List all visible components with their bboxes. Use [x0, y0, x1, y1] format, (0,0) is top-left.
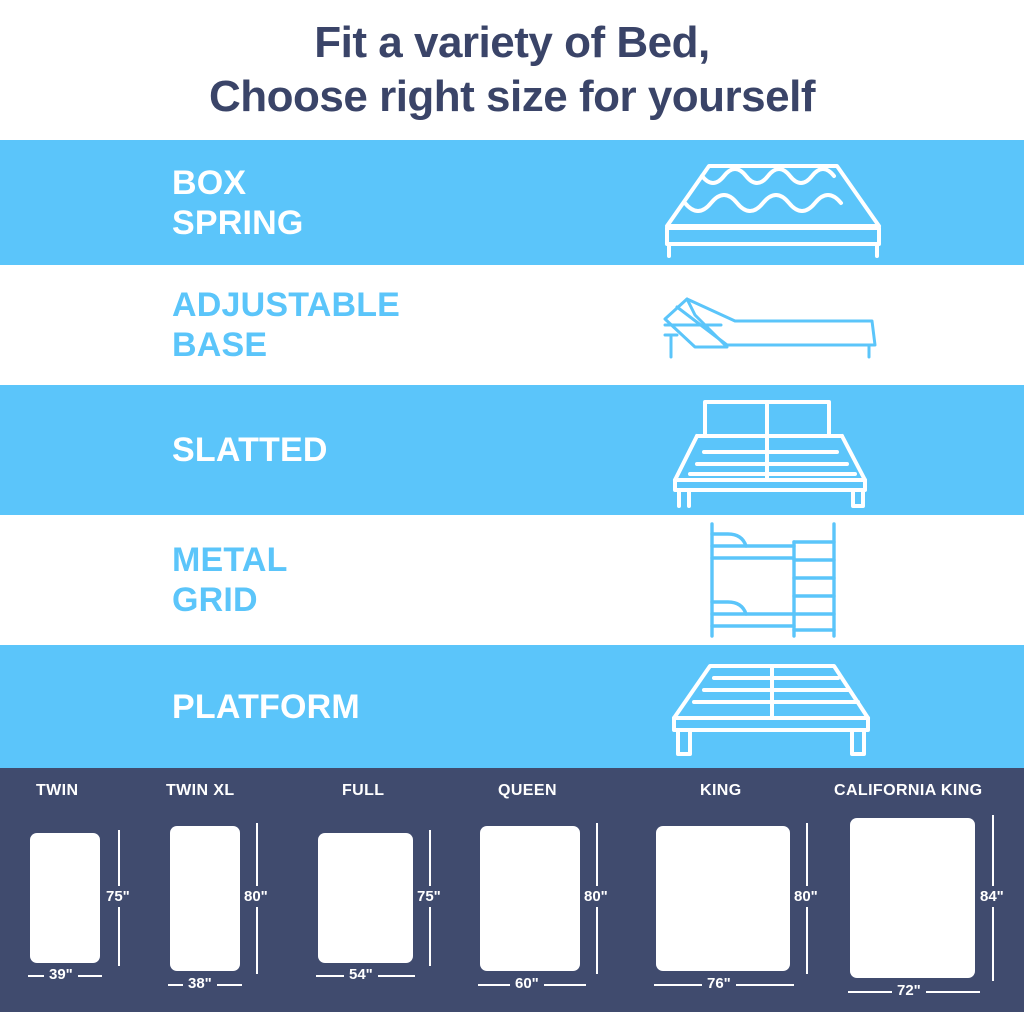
bed-type-row-metal-grid[interactable]: METAL GRID	[0, 515, 1024, 645]
page-title-line-2: Choose right size for yourself	[209, 70, 815, 124]
mattress-california-king	[850, 818, 975, 978]
size-card-full[interactable]: FULL 75" 54"	[325, 768, 490, 1012]
dim-height-king: 80"	[791, 886, 821, 907]
size-title-king: KING	[700, 782, 742, 800]
mattress-twin	[30, 833, 100, 963]
bed-type-row-platform[interactable]: PLATFORM	[0, 645, 1024, 768]
bed-type-list: BOX SPRING ADJUSTABLE BASE SLATTED	[0, 140, 1024, 768]
adjustable-base-icon	[520, 265, 1024, 385]
dim-height-twin: 75"	[103, 886, 133, 907]
platform-bed-icon	[520, 645, 1024, 768]
page-title-line-1: Fit a variety of Bed,	[314, 16, 709, 70]
size-title-full: FULL	[342, 782, 384, 800]
size-card-king[interactable]: KING 80" 76"	[650, 768, 845, 1012]
size-card-queen[interactable]: QUEEN 80" 60"	[470, 768, 650, 1012]
box-spring-icon	[520, 140, 1024, 265]
size-card-twin[interactable]: TWIN 75" 39"	[0, 768, 160, 1012]
dim-height-twin-xl: 80"	[241, 886, 271, 907]
dim-width-queen: 60"	[510, 975, 544, 992]
slatted-bed-icon	[520, 385, 1024, 515]
size-title-twin-xl: TWIN XL	[166, 782, 235, 800]
bed-type-label-slatted: SLATTED	[0, 430, 520, 470]
dim-width-king: 76"	[702, 975, 736, 992]
bed-type-row-box-spring[interactable]: BOX SPRING	[0, 140, 1024, 265]
bed-type-label-platform: PLATFORM	[0, 687, 520, 727]
dim-height-queen: 80"	[581, 886, 611, 907]
dim-width-full: 54"	[344, 966, 378, 983]
size-title-california-king: CALIFORNIA KING	[834, 782, 983, 800]
dim-height-california-king: 84"	[977, 886, 1007, 907]
mattress-full	[318, 833, 413, 963]
mattress-king	[656, 826, 790, 971]
size-title-twin: TWIN	[36, 782, 78, 800]
size-card-california-king[interactable]: CALIFORNIA KING 84" 72"	[845, 768, 1024, 1012]
dim-width-california-king: 72"	[892, 982, 926, 999]
bed-type-row-adjustable-base[interactable]: ADJUSTABLE BASE	[0, 265, 1024, 385]
dim-width-twin: 39"	[44, 966, 78, 983]
bed-type-label-box-spring: BOX SPRING	[0, 163, 520, 243]
dim-width-twin-xl: 38"	[183, 975, 217, 992]
bed-type-row-slatted[interactable]: SLATTED	[0, 385, 1024, 515]
dim-height-full: 75"	[414, 886, 444, 907]
bed-type-label-metal-grid: METAL GRID	[0, 540, 520, 620]
bed-type-label-adjustable-base: ADJUSTABLE BASE	[0, 285, 520, 365]
size-card-twin-xl[interactable]: TWIN XL 80" 38"	[160, 768, 325, 1012]
bed-size-comparison: TWIN 75" 39" TWIN XL 80" 38" FULL 75" 54…	[0, 768, 1024, 1012]
mattress-queen	[480, 826, 580, 971]
mattress-twin-xl	[170, 826, 240, 971]
size-title-queen: QUEEN	[498, 782, 557, 800]
page-title: Fit a variety of Bed, Choose right size …	[0, 0, 1024, 140]
metal-grid-icon	[520, 515, 1024, 645]
